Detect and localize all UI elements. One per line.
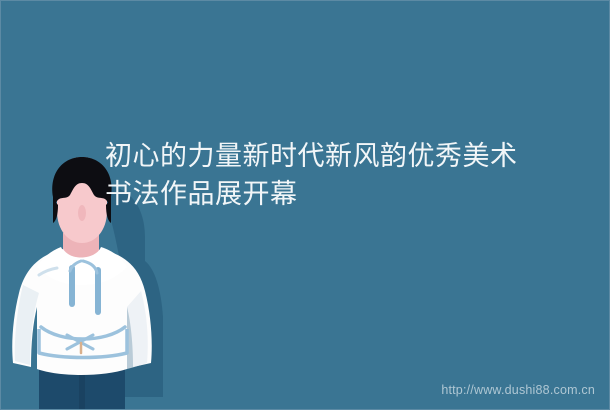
page-title-line-2: 书法作品展开幕 bbox=[105, 175, 605, 213]
page-title: 初心的力量新时代新风韵优秀美术 书法作品展开幕 bbox=[105, 137, 605, 213]
site-url-watermark: http://www.dushi88.com.cn bbox=[441, 383, 595, 397]
article-cover-card: 初心的力量新时代新风韵优秀美术 书法作品展开幕 http://www.dushi… bbox=[0, 0, 610, 410]
hoodie bbox=[12, 247, 152, 375]
page-title-line-1: 初心的力量新时代新风韵优秀美术 bbox=[105, 137, 605, 175]
